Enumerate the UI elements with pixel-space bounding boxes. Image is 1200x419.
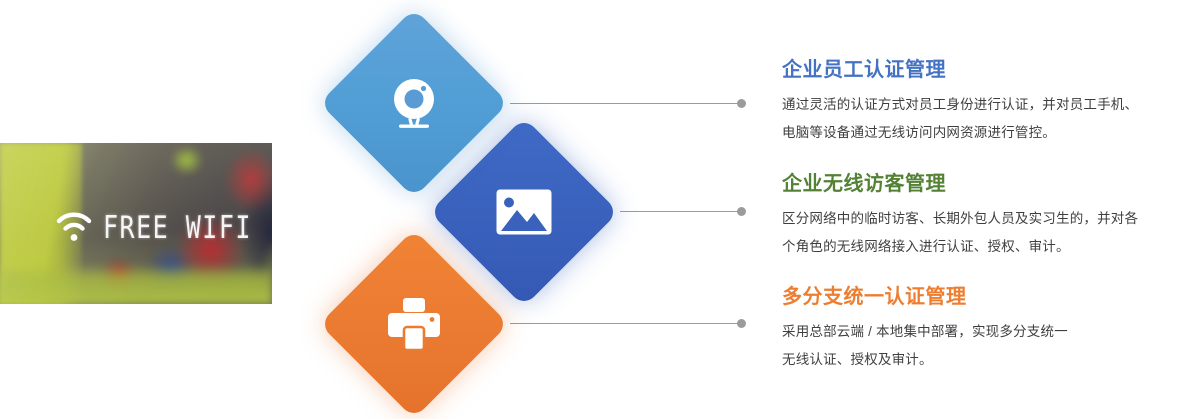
feature-body-line: 通过灵活的认证方式对员工身份进行认证，并对员工手机、	[782, 97, 1138, 112]
feature-body-line: 无线认证、授权及审计。	[782, 352, 933, 367]
feature-body-line: 采用总部云端 / 本地集中部署，实现多分支统一	[782, 324, 1068, 339]
feature-body-line: 个角色的无线网络接入进行认证、授权、审计。	[782, 239, 1070, 254]
feature-body-line: 区分网络中的临时访客、长期外包人员及实习生的，并对各	[782, 211, 1138, 226]
feature-body-employee-auth: 通过灵活的认证方式对员工身份进行认证，并对员工手机、 电脑等设备通过无线访问内网…	[782, 91, 1192, 147]
connector-line-2	[620, 211, 742, 212]
feature-block-multi-branch: 多分支统一认证管理 采用总部云端 / 本地集中部署，实现多分支统一 无线认证、授…	[782, 285, 1192, 374]
connector-dot-3	[737, 319, 746, 328]
feature-heading-multi-branch: 多分支统一认证管理	[782, 285, 1192, 309]
feature-body-guest-wireless: 区分网络中的临时访客、长期外包人员及实习生的，并对各 个角色的无线网络接入进行认…	[782, 205, 1192, 261]
printer-icon	[385, 297, 443, 351]
diamond-node-group	[0, 0, 680, 418]
feature-body-multi-branch: 采用总部云端 / 本地集中部署，实现多分支统一 无线认证、授权及审计。	[782, 318, 1192, 374]
webcam-icon	[383, 72, 445, 134]
feature-block-employee-auth: 企业员工认证管理 通过灵活的认证方式对员工身份进行认证，并对员工手机、 电脑等设…	[782, 58, 1192, 147]
image-icon	[495, 188, 553, 236]
feature-block-guest-wireless: 企业无线访客管理 区分网络中的临时访客、长期外包人员及实习生的，并对各 个角色的…	[782, 172, 1192, 261]
feature-heading-guest-wireless: 企业无线访客管理	[782, 172, 1192, 196]
feature-heading-employee-auth: 企业员工认证管理	[782, 58, 1192, 82]
connector-line-1	[510, 103, 742, 104]
connector-dot-1	[737, 99, 746, 108]
connector-line-3	[510, 323, 742, 324]
connector-dot-2	[737, 207, 746, 216]
feature-body-line: 电脑等设备通过无线访问内网资源进行管控。	[782, 125, 1056, 140]
